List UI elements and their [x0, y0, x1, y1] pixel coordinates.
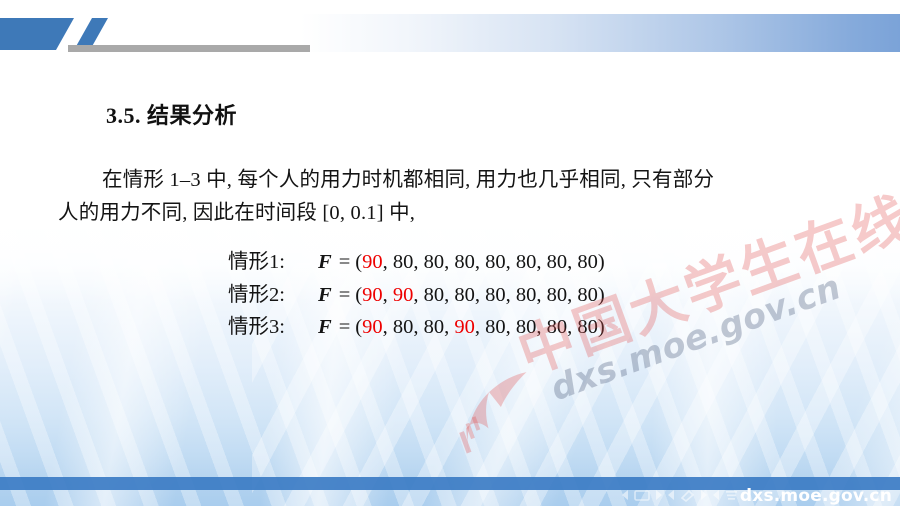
- prev-arrow-icon[interactable]: [712, 489, 721, 501]
- formula-value: 80: [485, 251, 506, 273]
- formula-value-highlighted: 90: [362, 251, 383, 273]
- header-gray-rule: [68, 45, 310, 52]
- formula-value: 80: [424, 251, 445, 273]
- formula-value: 80: [516, 284, 537, 306]
- formula-separator: ,: [444, 316, 454, 338]
- formula-separator: ,: [567, 284, 577, 306]
- formula-value: 80: [547, 251, 568, 273]
- formula-separator: ,: [444, 251, 454, 273]
- formula-separator: ,: [383, 316, 393, 338]
- paragraph-line-2: 人的用力不同, 因此在时间段 [0, 0.1] 中,: [58, 202, 415, 224]
- formula-separator: ,: [383, 284, 393, 306]
- formula-value: 80: [516, 316, 537, 338]
- slide: 3.5. 结果分析 在情形 1–3 中, 每个人的用力时机都相同, 用力也几乎相…: [0, 0, 900, 506]
- next-arrow-icon[interactable]: [699, 489, 708, 501]
- paragraph-line-1: 在情形 1–3 中, 每个人的用力时机都相同, 用力也几乎相同, 只有部分: [102, 169, 714, 191]
- footer-navigation-controls[interactable]: [621, 485, 738, 505]
- formula-variable: F: [302, 284, 334, 306]
- formula-value: 80: [393, 251, 414, 273]
- formula-separator: ,: [536, 284, 546, 306]
- formula-separator: ,: [475, 251, 485, 273]
- formula-block: 情形1:F=(90, 80, 80, 80, 80, 80, 80, 80)情形…: [228, 246, 605, 344]
- formula-value: 80: [393, 316, 414, 338]
- formula-value: 80: [577, 316, 598, 338]
- formula-separator: ,: [475, 284, 485, 306]
- formula-row: 情形1:F=(90, 80, 80, 80, 80, 80, 80, 80): [228, 246, 605, 279]
- pen-icon[interactable]: [680, 489, 695, 502]
- formula-value: 80: [424, 284, 445, 306]
- formula-value: 80: [577, 251, 598, 273]
- formula-separator: ,: [567, 316, 577, 338]
- formula-close-paren: ): [598, 284, 605, 306]
- formula-value: 80: [547, 284, 568, 306]
- formula-row: 情形2:F=(90, 90, 80, 80, 80, 80, 80, 80): [228, 279, 605, 312]
- formula-close-paren: ): [598, 251, 605, 273]
- formula-label: 情形1:: [228, 246, 302, 279]
- formula-equals: =: [334, 316, 356, 338]
- formula-equals: =: [334, 251, 356, 273]
- formula-separator: ,: [567, 251, 577, 273]
- formula-separator: ,: [444, 284, 454, 306]
- formula-separator: ,: [506, 316, 516, 338]
- slideshow-icon[interactable]: [634, 489, 650, 501]
- prev-arrow-icon[interactable]: [667, 489, 676, 501]
- prev-arrow-icon[interactable]: [621, 489, 630, 501]
- formula-separator: ,: [536, 251, 546, 273]
- header-gradient-band: [300, 14, 900, 52]
- formula-value: 80: [454, 251, 475, 273]
- formula-value: 80: [454, 284, 475, 306]
- formula-label: 情形2:: [228, 279, 302, 312]
- page-title: 3.5. 结果分析: [106, 98, 237, 130]
- formula-separator: ,: [506, 251, 516, 273]
- formula-label: 情形3:: [228, 311, 302, 344]
- formula-value-highlighted: 90: [362, 284, 383, 306]
- formula-separator: ,: [383, 251, 393, 273]
- formula-separator: ,: [413, 251, 423, 273]
- formula-variable: F: [302, 251, 334, 273]
- body-paragraph: 在情形 1–3 中, 每个人的用力时机都相同, 用力也几乎相同, 只有部分 人的…: [58, 164, 878, 230]
- formula-value: 80: [485, 316, 506, 338]
- formula-separator: ,: [413, 284, 423, 306]
- formula-value-highlighted: 90: [362, 316, 383, 338]
- menu-icon[interactable]: [725, 489, 738, 501]
- formula-value-highlighted: 90: [454, 316, 475, 338]
- formula-value: 80: [424, 316, 445, 338]
- formula-value: 80: [516, 251, 537, 273]
- formula-value: 80: [485, 284, 506, 306]
- formula-value-highlighted: 90: [393, 284, 414, 306]
- formula-variable: F: [302, 316, 334, 338]
- formula-separator: ,: [475, 316, 485, 338]
- footer-site-label: dxs.moe.gov.cn: [740, 486, 892, 506]
- next-arrow-icon[interactable]: [654, 489, 663, 501]
- formula-separator: ,: [506, 284, 516, 306]
- formula-value: 80: [547, 316, 568, 338]
- formula-value: 80: [577, 284, 598, 306]
- formula-equals: =: [334, 284, 356, 306]
- formula-close-paren: ): [598, 316, 605, 338]
- formula-separator: ,: [536, 316, 546, 338]
- formula-row: 情形3:F=(90, 80, 80, 90, 80, 80, 80, 80): [228, 311, 605, 344]
- formula-separator: ,: [413, 316, 423, 338]
